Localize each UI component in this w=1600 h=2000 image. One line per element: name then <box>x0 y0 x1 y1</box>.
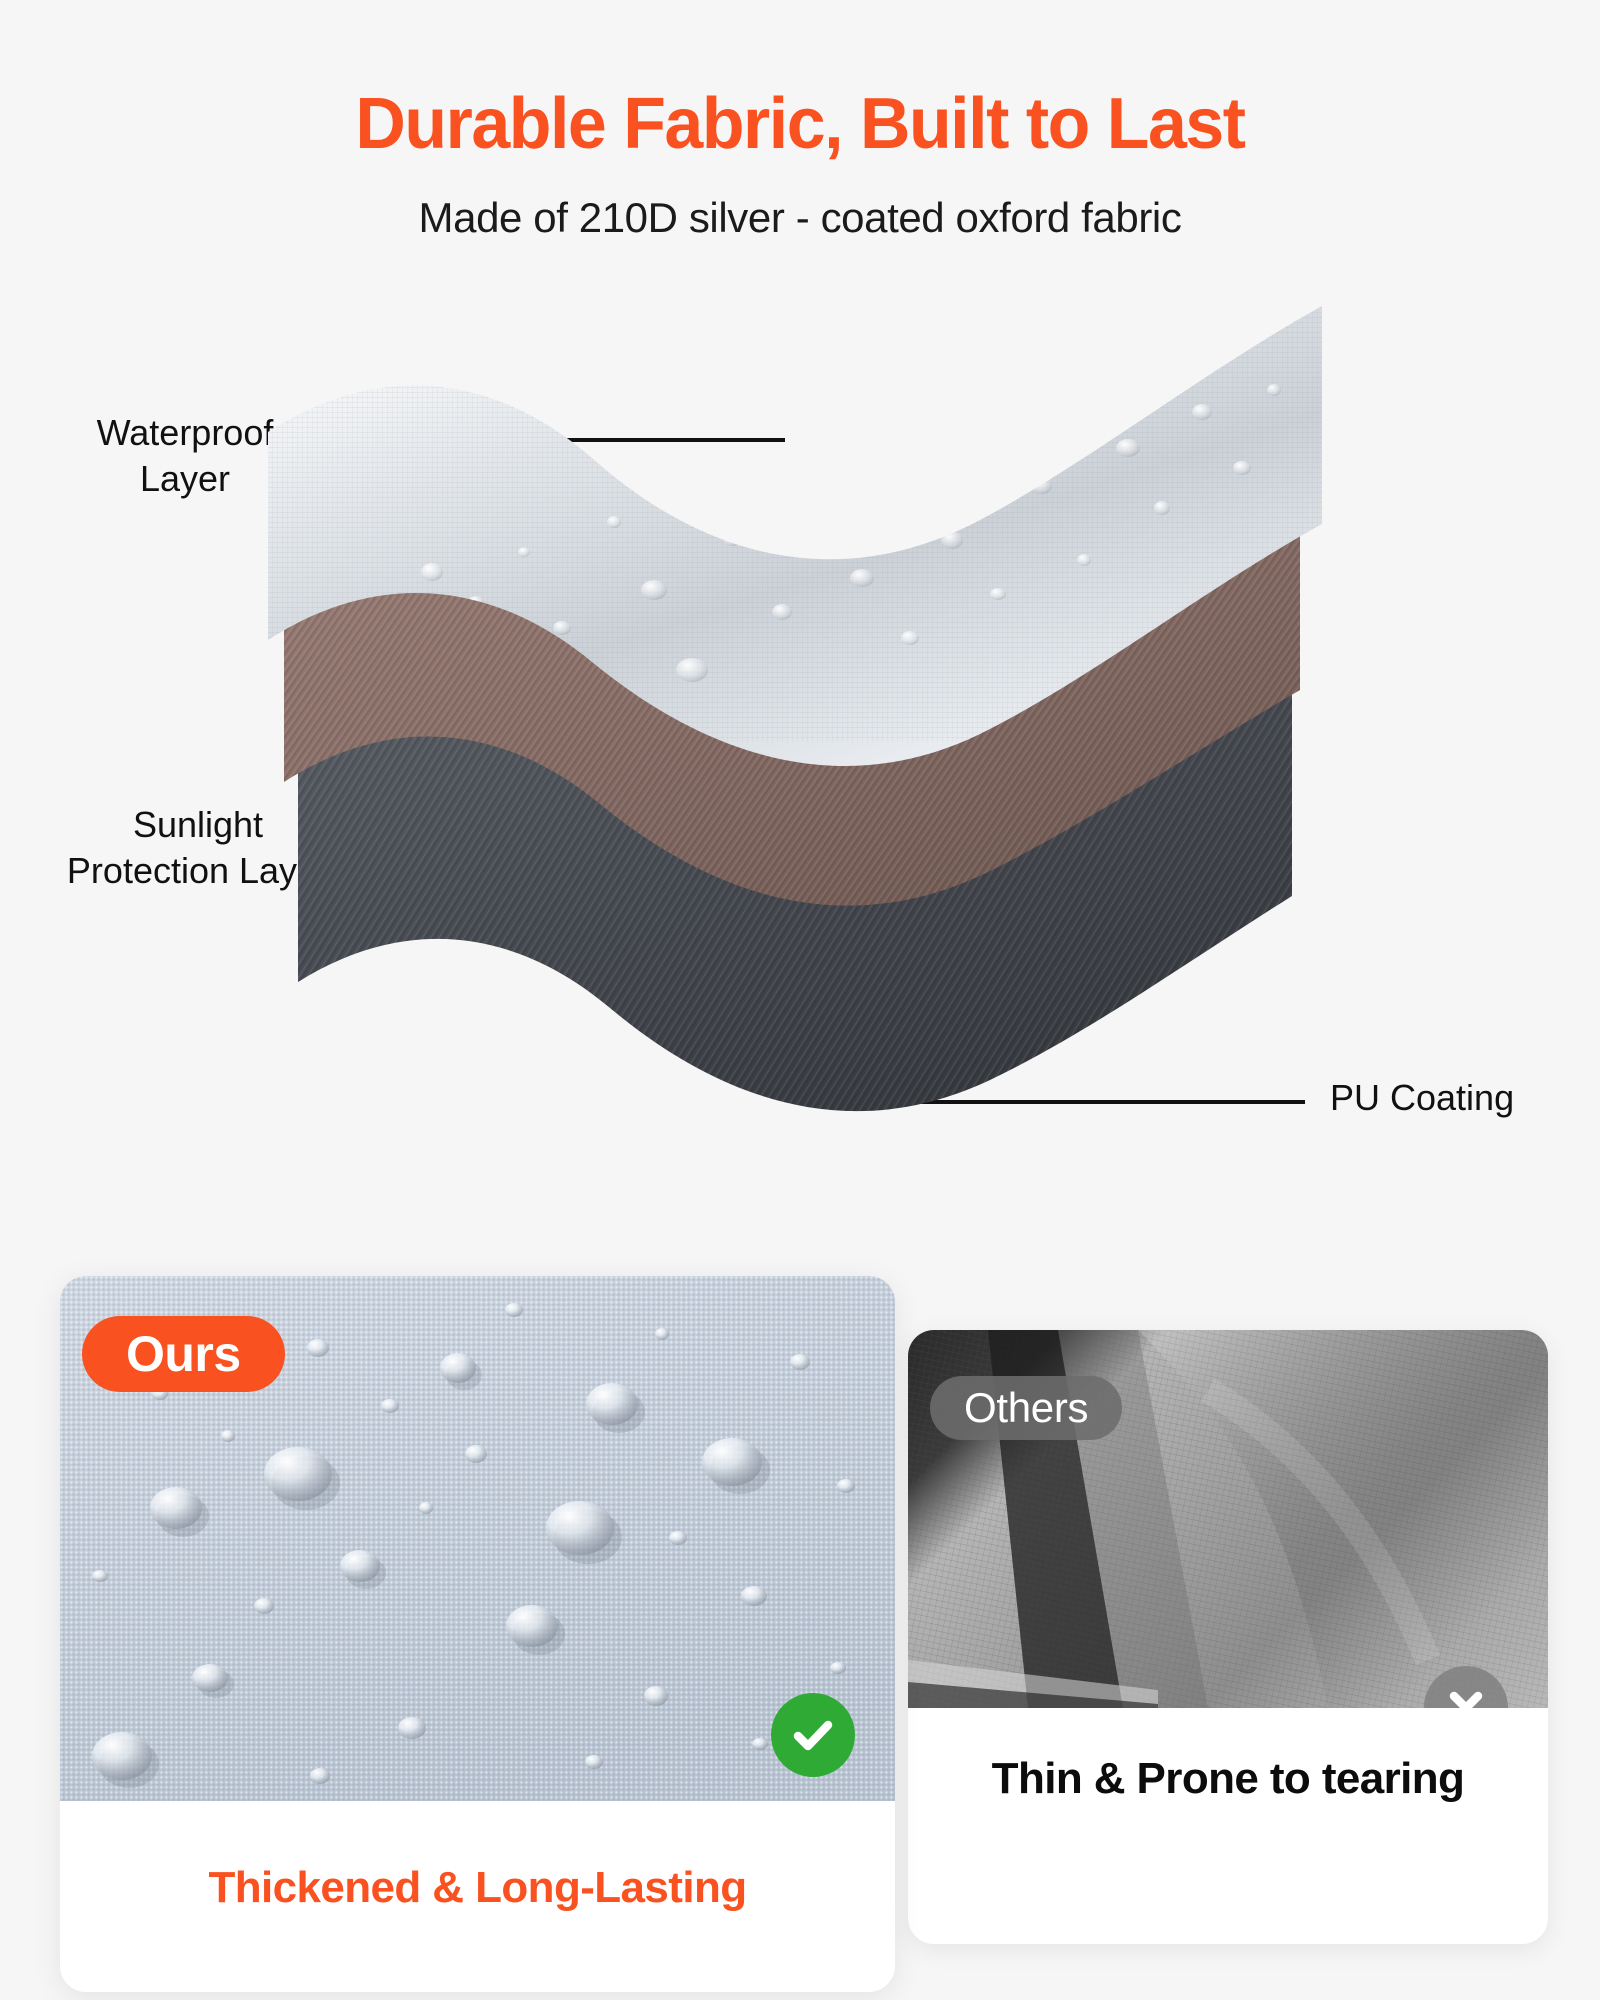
comparison-card-others: Others Thin & Prone to tearing <box>908 1330 1548 1944</box>
badge-ours-label: Ours <box>126 1325 241 1383</box>
caption-others: Thin & Prone to tearing <box>908 1708 1548 1804</box>
badge-others-label: Others <box>964 1384 1088 1432</box>
product-infographic-page: Durable Fabric, Built to Last Made of 21… <box>0 0 1600 2000</box>
badge-ours: Ours <box>82 1316 285 1392</box>
ours-photo: Ours <box>60 1276 895 1801</box>
caption-ours: Thickened & Long-Lasting <box>60 1801 895 1913</box>
check-icon <box>771 1693 855 1777</box>
layer-sheet-waterproof <box>262 272 1332 742</box>
comparison-card-ours: Ours Thickened & Long-Lasting <box>60 1276 895 1992</box>
others-photo: Others <box>908 1330 1548 1708</box>
badge-others: Others <box>930 1376 1122 1440</box>
